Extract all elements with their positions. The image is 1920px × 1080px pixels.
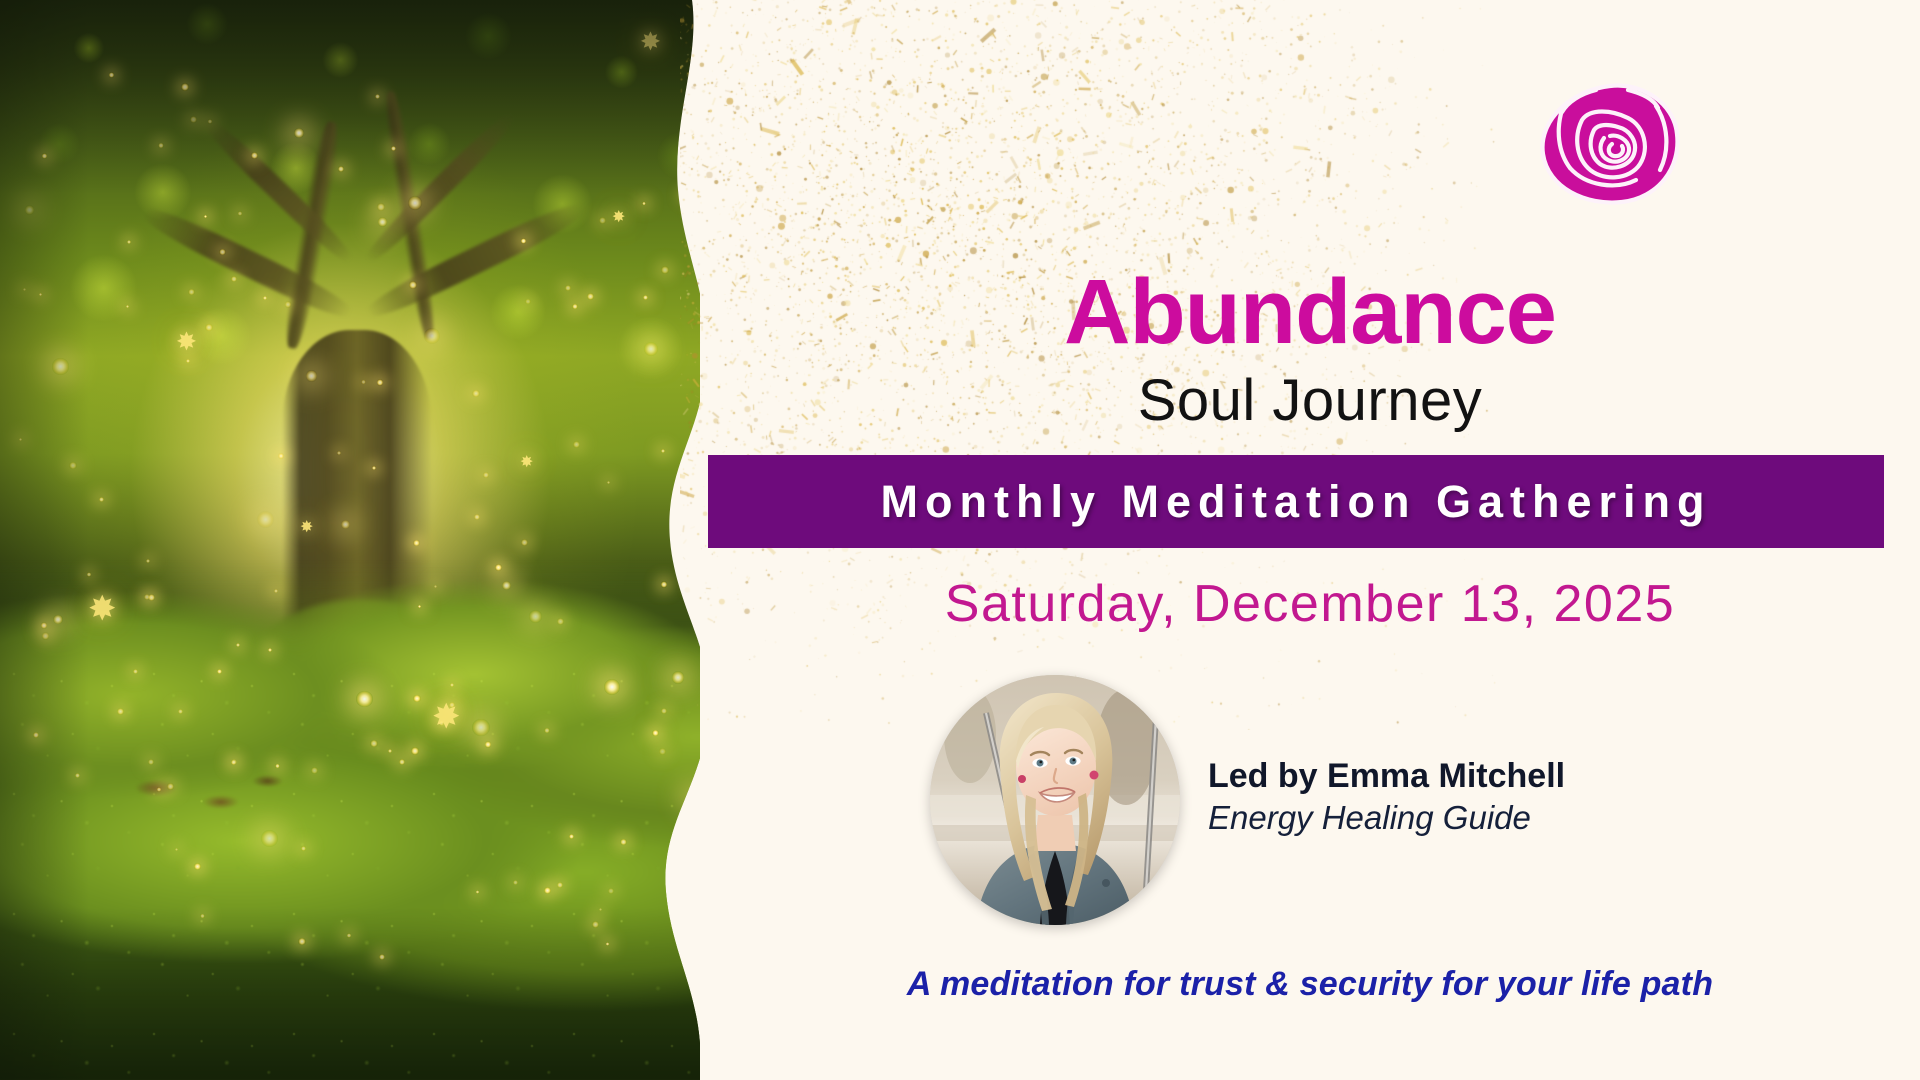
presenter-block: Led by Emma Mitchell Energy Healing Guid… xyxy=(930,675,1565,925)
sparkle-icon: ✸ xyxy=(520,455,533,471)
portrait-photo xyxy=(930,675,1180,925)
sparkle-icon: ✸ xyxy=(432,700,461,734)
event-date: Saturday, December 13, 2025 xyxy=(700,574,1920,634)
presenter-role: Energy Healing Guide xyxy=(1208,797,1565,838)
rose-icon xyxy=(1536,80,1684,206)
page-title: Abundance xyxy=(700,266,1920,358)
event-poster: ✸✸✸✸✸✸✸ Abundance Soul J xyxy=(0,0,1920,1080)
firefly-layer: ✸✸✸✸✸✸✸ xyxy=(0,0,740,1080)
sparkle-icon: ✸ xyxy=(300,520,313,536)
presenter-text: Led by Emma Mitchell Energy Healing Guid… xyxy=(1208,756,1565,844)
banner-label: Monthly Meditation Gathering xyxy=(881,476,1712,528)
sparkle-icon: ✸ xyxy=(176,330,197,355)
banner: Monthly Meditation Gathering xyxy=(708,455,1884,548)
sparkle-icon: ✸ xyxy=(612,210,625,226)
tagline: A meditation for trust & security for yo… xyxy=(700,965,1920,1004)
sparkle-icon: ✸ xyxy=(88,592,117,626)
tree-artwork-panel: ✸✸✸✸✸✸✸ xyxy=(0,0,740,1080)
sparkle-icon: ✸ xyxy=(640,30,661,55)
tree-scene: ✸✸✸✸✸✸✸ xyxy=(0,0,740,1080)
avatar xyxy=(930,675,1180,925)
page-subtitle: Soul Journey xyxy=(700,372,1920,430)
presenter-name: Led by Emma Mitchell xyxy=(1208,756,1565,797)
